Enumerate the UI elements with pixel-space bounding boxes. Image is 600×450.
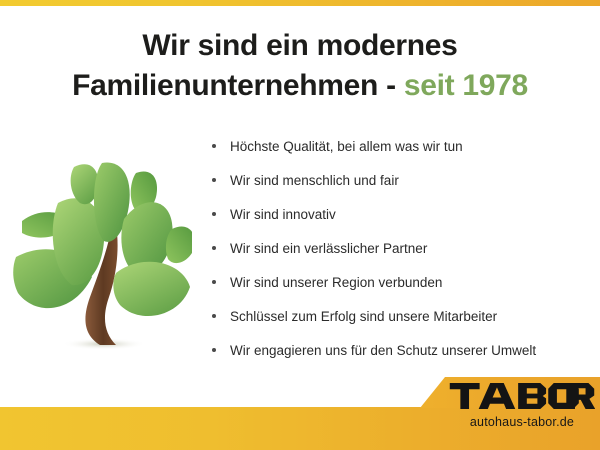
list-item: Wir sind unserer Region verbunden xyxy=(208,276,600,290)
bullet-dot xyxy=(212,144,216,148)
list-item: Wir sind ein verlässlicher Partner xyxy=(208,242,600,256)
value-list: Höchste Qualität, bei allem was wir tun … xyxy=(208,140,600,378)
top-accent-bar xyxy=(0,0,600,6)
bullet-dot xyxy=(212,348,216,352)
bullet-dot xyxy=(212,280,216,284)
brand-url[interactable]: autohaus-tabor.de xyxy=(448,415,596,429)
bullet-dot xyxy=(212,212,216,216)
list-item: Wir sind innovativ xyxy=(208,208,600,222)
headline-line-2: Familienunternehmen - seit 1978 xyxy=(0,66,600,106)
leaf xyxy=(113,262,190,316)
tree-illustration xyxy=(12,145,192,370)
list-item-label: Schlüssel zum Erfolg sind unsere Mitarbe… xyxy=(230,309,497,324)
bullet-dot xyxy=(212,314,216,318)
bullet-dot xyxy=(212,178,216,182)
page-title: Wir sind ein modernes Familienunternehme… xyxy=(0,26,600,105)
list-item-label: Wir sind ein verlässlicher Partner xyxy=(230,241,427,256)
headline-line-2-black: Familienunternehmen - xyxy=(72,69,404,102)
list-item-label: Wir sind unserer Region verbunden xyxy=(230,275,442,290)
tabor-wordmark-icon xyxy=(448,383,596,414)
list-item-label: Höchste Qualität, bei allem was wir tun xyxy=(230,139,463,154)
list-item: Schlüssel zum Erfolg sind unsere Mitarbe… xyxy=(208,310,600,324)
list-item: Höchste Qualität, bei allem was wir tun xyxy=(208,140,600,154)
headline-line-2-green: seit 1978 xyxy=(404,69,528,102)
list-item-label: Wir sind menschlich und fair xyxy=(230,173,399,188)
list-item-label: Wir engagieren uns für den Schutz unsere… xyxy=(230,343,536,358)
bullet-dot xyxy=(212,246,216,250)
leaf xyxy=(166,226,192,263)
list-item-label: Wir sind innovativ xyxy=(230,207,336,222)
brand-logo[interactable]: autohaus-tabor.de xyxy=(448,383,596,429)
headline-line-1: Wir sind ein modernes xyxy=(0,26,600,66)
list-item: Wir engagieren uns für den Schutz unsere… xyxy=(208,344,600,358)
list-item: Wir sind menschlich und fair xyxy=(208,174,600,188)
